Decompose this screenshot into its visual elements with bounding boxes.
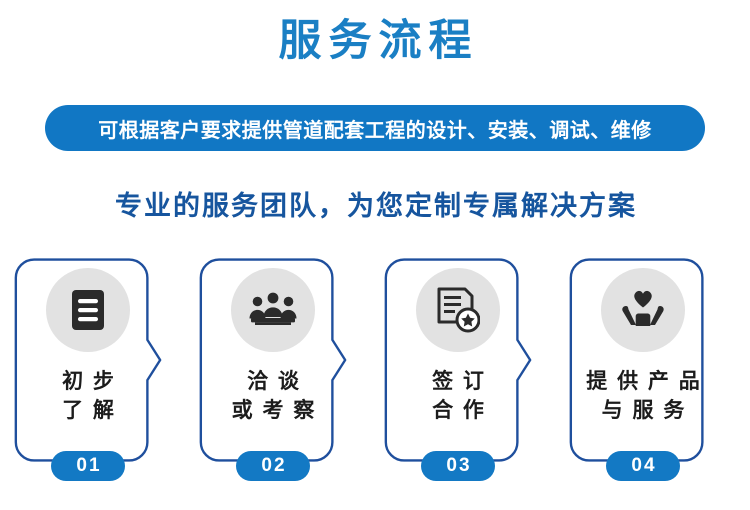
step-label-line1: 提 供 产 品	[586, 370, 702, 393]
meeting-people-icon	[249, 290, 297, 330]
subtitle: 专业的服务团队，为您定制专属解决方案	[0, 184, 750, 223]
step-number-badge: 04	[606, 451, 680, 481]
step-number-badge: 03	[421, 451, 495, 481]
step-card-3[interactable]: 签 订 合 作 03	[384, 248, 532, 472]
step-icon-circle	[231, 268, 315, 352]
step-label-line2: 与 服 务	[584, 397, 702, 426]
step-label-line2: 了 解	[60, 397, 116, 426]
step-icon-circle	[601, 268, 685, 352]
service-banner-text: 可根据客户要求提供管道配套工程的设计、安装、调试、维修	[98, 114, 652, 143]
process-steps: 初 步 了 解 01	[0, 248, 750, 498]
step-card-2[interactable]: 洽 谈 或 考 察 02	[199, 248, 347, 472]
step-label: 洽 谈 或 考 察	[230, 368, 317, 426]
step-number-badge: 01	[51, 451, 125, 481]
step-card-4[interactable]: 提 供 产 品 与 服 务 04	[569, 248, 717, 472]
step-label: 签 订 合 作	[430, 368, 486, 426]
step-label-line2: 合 作	[430, 397, 486, 426]
step-label: 初 步 了 解	[60, 368, 116, 426]
step-label-line1: 签 订	[432, 370, 486, 393]
step-icon-circle	[46, 268, 130, 352]
step-label-line1: 洽 谈	[247, 370, 301, 393]
document-lines-icon	[68, 288, 108, 332]
step-icon-circle	[416, 268, 500, 352]
step-card-1[interactable]: 初 步 了 解 01	[14, 248, 162, 472]
step-label-line1: 初 步	[62, 370, 116, 393]
step-label: 提 供 产 品 与 服 务	[584, 368, 702, 426]
step-label-line2: 或 考 察	[230, 397, 317, 426]
certificate-star-icon	[436, 287, 480, 333]
step-number-badge: 02	[236, 451, 310, 481]
page-title: 服务流程	[0, 18, 750, 65]
heart-hands-icon	[620, 288, 666, 332]
service-banner: 可根据客户要求提供管道配套工程的设计、安装、调试、维修	[45, 105, 705, 151]
